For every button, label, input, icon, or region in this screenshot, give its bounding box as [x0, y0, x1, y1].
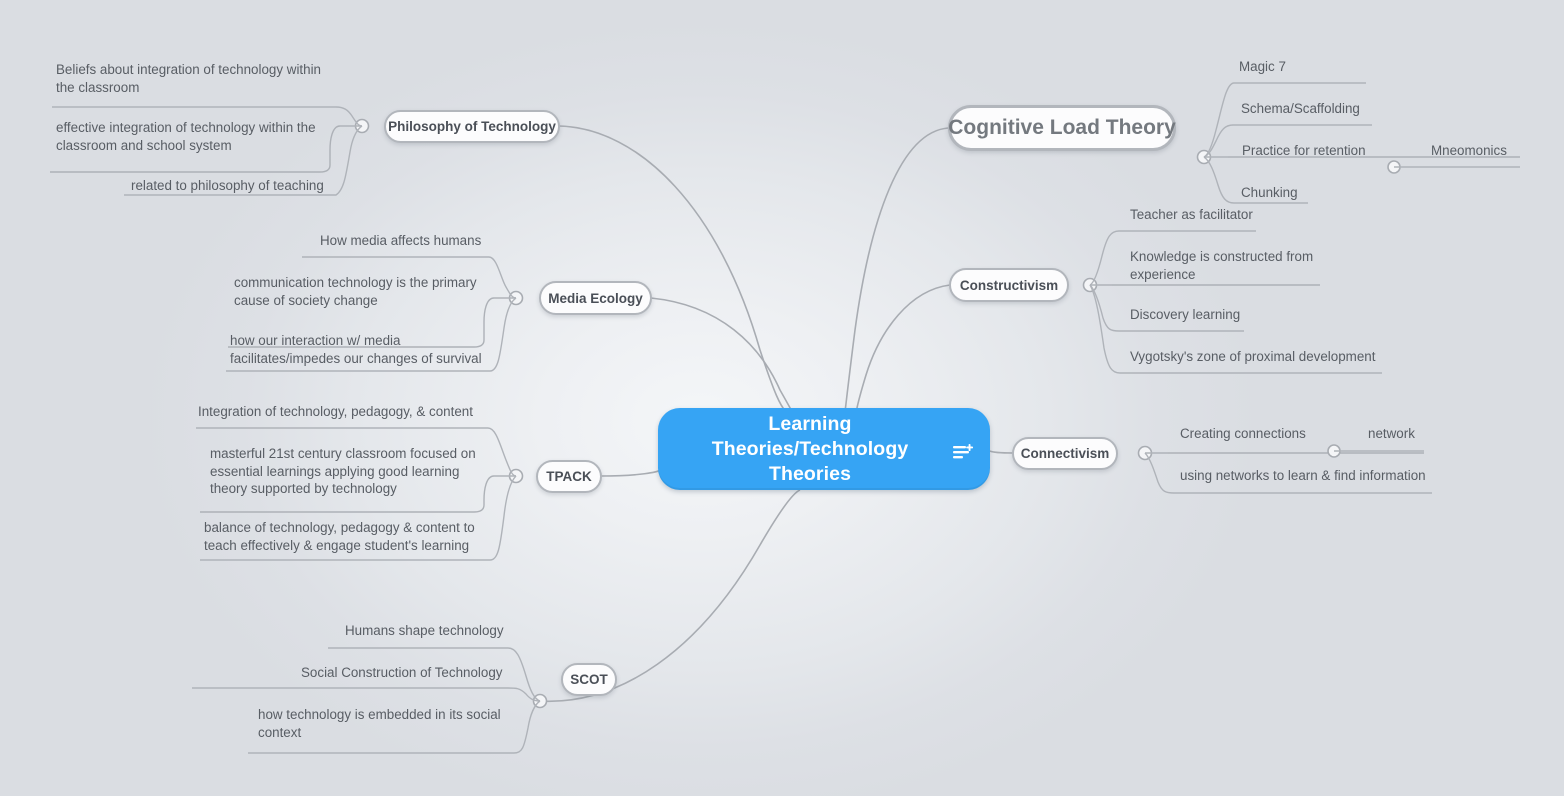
branch-label: TPACK: [546, 469, 592, 484]
branch-node-tpack[interactable]: TPACK: [536, 460, 602, 493]
connector-knob: [1084, 279, 1097, 292]
sub-item[interactable]: Discovery learning: [1130, 306, 1370, 324]
branch-label: Media Ecology: [548, 291, 643, 306]
branch-label: Connectivism: [1021, 446, 1110, 461]
sub-item[interactable]: Magic 7: [1239, 58, 1479, 76]
sub-item[interactable]: Teacher as facilitator: [1130, 206, 1390, 224]
sub-item[interactable]: How media affects humans: [320, 232, 620, 250]
connector-knob: [1198, 151, 1211, 164]
branch-label: Constructivism: [960, 278, 1058, 293]
connector-knob: [356, 120, 369, 133]
sub-item[interactable]: masterful 21st century classroom focused…: [210, 445, 510, 498]
branch-label: Cognitive Load Theory: [948, 116, 1176, 140]
connector-knob: [510, 470, 523, 483]
sub-item[interactable]: Schema/Scaffolding: [1241, 100, 1481, 118]
sub-item[interactable]: communication technology is the primary …: [234, 274, 534, 309]
sub-item[interactable]: Beliefs about integration of technology …: [56, 61, 356, 96]
branch-node-cognitive-load-theory[interactable]: Cognitive Load Theory: [948, 105, 1176, 151]
connector-knob: [1328, 445, 1340, 457]
sub-item[interactable]: network: [1368, 425, 1488, 443]
sub-item[interactable]: Creating connections: [1180, 425, 1400, 443]
sub-item[interactable]: Humans shape technology: [345, 622, 645, 640]
sub-item[interactable]: Social Construction of Technology: [301, 664, 601, 682]
sub-item[interactable]: how technology is embedded in its social…: [258, 706, 548, 741]
branch-node-philosophy-of-technology[interactable]: Philosophy of Technology: [384, 110, 560, 143]
sub-item[interactable]: Knowledge is constructed from experience: [1130, 248, 1360, 283]
sub-item[interactable]: effective integration of technology with…: [56, 119, 356, 154]
branch-node-connectivism[interactable]: Connectivism: [1012, 437, 1118, 470]
sub-item[interactable]: using networks to learn & find informati…: [1180, 467, 1460, 485]
branch-node-constructivism[interactable]: Constructivism: [949, 268, 1069, 302]
sub-item[interactable]: Mneomonics: [1431, 142, 1564, 160]
branch-node-media-ecology[interactable]: Media Ecology: [539, 281, 652, 315]
sub-item[interactable]: Integration of technology, pedagogy, & c…: [198, 403, 518, 421]
sub-item[interactable]: Vygotsky's zone of proximal development: [1130, 348, 1430, 366]
branch-label: Philosophy of Technology: [388, 119, 556, 134]
connector-knob: [1139, 447, 1152, 460]
sub-item[interactable]: Chunking: [1241, 184, 1481, 202]
mindmap-canvas[interactable]: Learning Theories/Technology Theories Ph…: [0, 0, 1564, 796]
connector-knob: [1388, 161, 1400, 173]
central-node[interactable]: Learning Theories/Technology Theories: [658, 408, 990, 490]
central-node-label: Learning Theories/Technology Theories: [676, 412, 944, 487]
add-note-icon[interactable]: [953, 444, 975, 462]
sub-item[interactable]: related to philosophy of teaching: [131, 177, 431, 195]
sub-item[interactable]: balance of technology, pedagogy & conten…: [204, 519, 514, 554]
sub-item[interactable]: how our interaction w/ media facilitates…: [230, 332, 530, 367]
